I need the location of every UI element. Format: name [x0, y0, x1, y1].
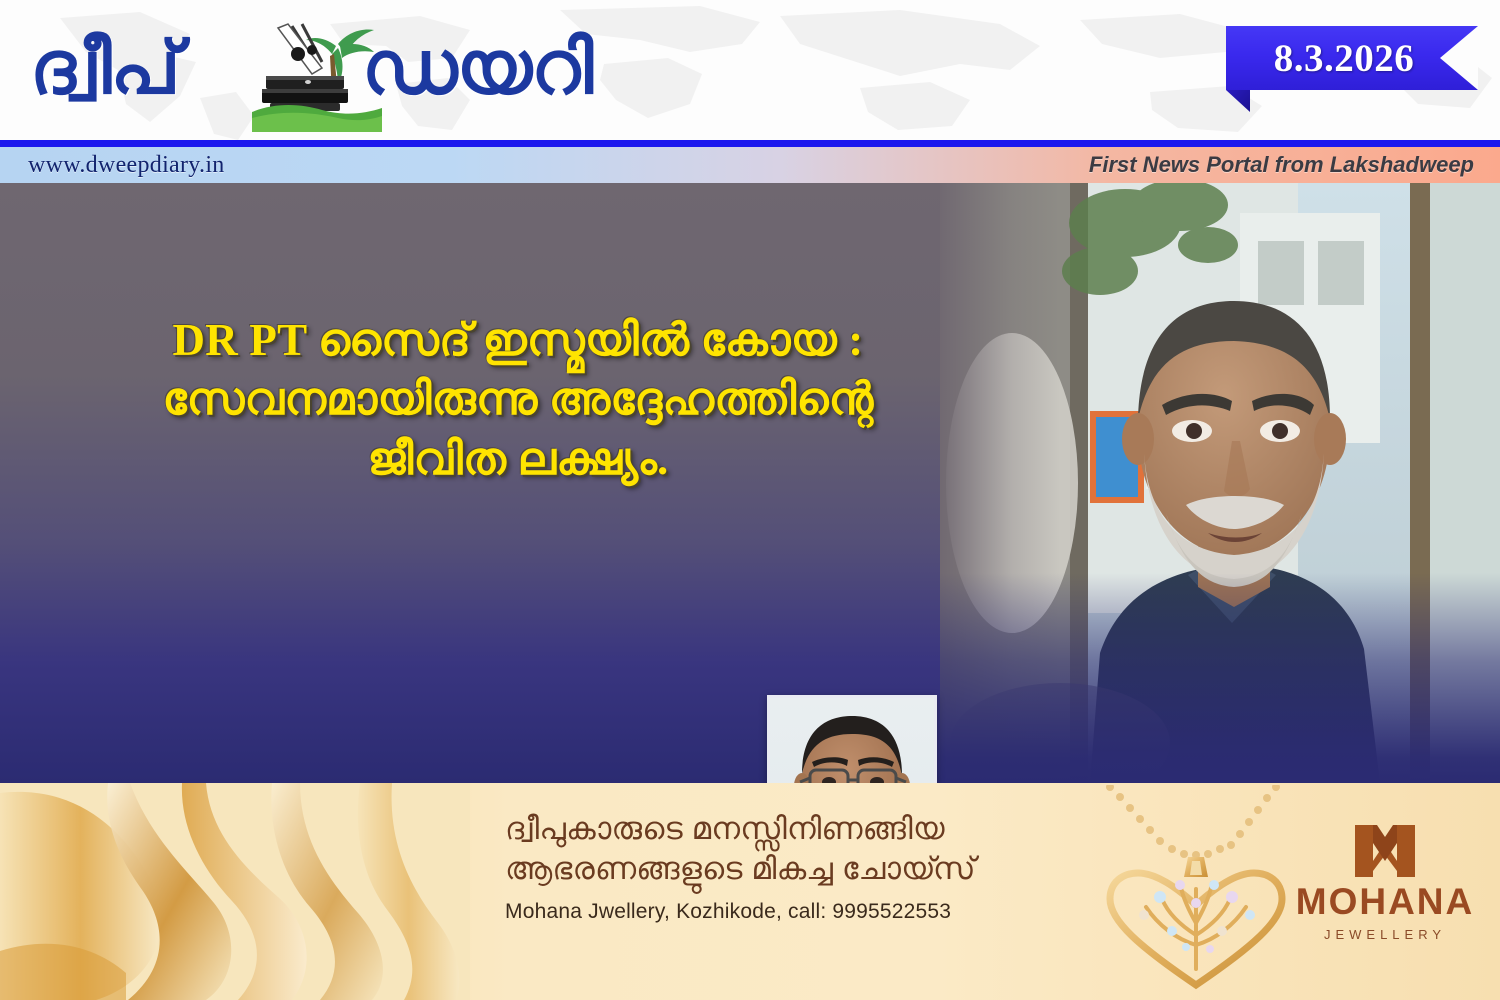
headline-line-1: DR PT സൈദ് ഇസ്മയിൽ കോയ : [18, 311, 1018, 370]
brand-logo[interactable]: MOHANA JEWELLERY [1290, 821, 1480, 942]
brand-subtitle: JEWELLERY [1290, 927, 1480, 942]
headline-line-3: ജീവിത ലക്ഷ്യം. [18, 430, 1018, 489]
headline-line-2: സേവനമായിരുന്നു അദ്ദേഹത്തിന്റെ [18, 370, 1018, 429]
portal-tagline: First News Portal from Lakshadweep [1089, 152, 1500, 178]
ad-line-2: ആഭരണങ്ങളുടെ മികച്ച ചോയ്സ് [505, 849, 1065, 889]
site-url[interactable]: www.dweepdiary.in [0, 152, 225, 179]
headline: DR PT സൈദ് ഇസ്മയിൽ കോയ : സേവനമായിരുന്നു … [18, 311, 1018, 489]
main-photo [940, 183, 1500, 783]
news-content: DR PT സൈദ് ഇസ്മയിൽ കോയ : സേവനമായിരുന്നു … [0, 183, 1500, 783]
site-header: ദ്വീപ് [0, 0, 1500, 140]
ad-line-1: ദ്വീപുകാരുടെ മനസ്സിനിണങ്ങിയ [505, 809, 1065, 849]
ad-contact[interactable]: Mohana Jwellery, Kozhikode, call: 999552… [505, 900, 1065, 924]
logo-text-dweep: ദ്വീപ് [30, 32, 179, 106]
brand-name: MOHANA [1290, 883, 1480, 920]
date-badge-text: 8.3.2026 [1274, 36, 1415, 81]
header-divider [0, 140, 1500, 147]
advertisement-banner[interactable]: ദ്വീപുകാരുടെ മനസ്സിനിണങ്ങിയ ആഭരണങ്ങളുടെ … [0, 783, 1500, 1000]
ad-copy: ദ്വീപുകാരുടെ മനസ്സിനിണങ്ങിയ ആഭരണങ്ങളുടെ … [505, 809, 1065, 924]
date-badge: 8.3.2026 [1226, 26, 1478, 90]
gold-heart-pendant-necklace [1080, 785, 1310, 1000]
logo-text-diary: ഡയറി [362, 32, 592, 106]
main-photo-bottom-fade [940, 573, 1500, 783]
mohana-m-monogram-icon [1353, 821, 1417, 877]
news-card: ദ്വീപ് [0, 0, 1500, 1000]
gold-silk-fabric [0, 783, 470, 1000]
inset-portrait [767, 695, 937, 783]
tagline-bar: www.dweepdiary.in First News Portal from… [0, 147, 1500, 183]
